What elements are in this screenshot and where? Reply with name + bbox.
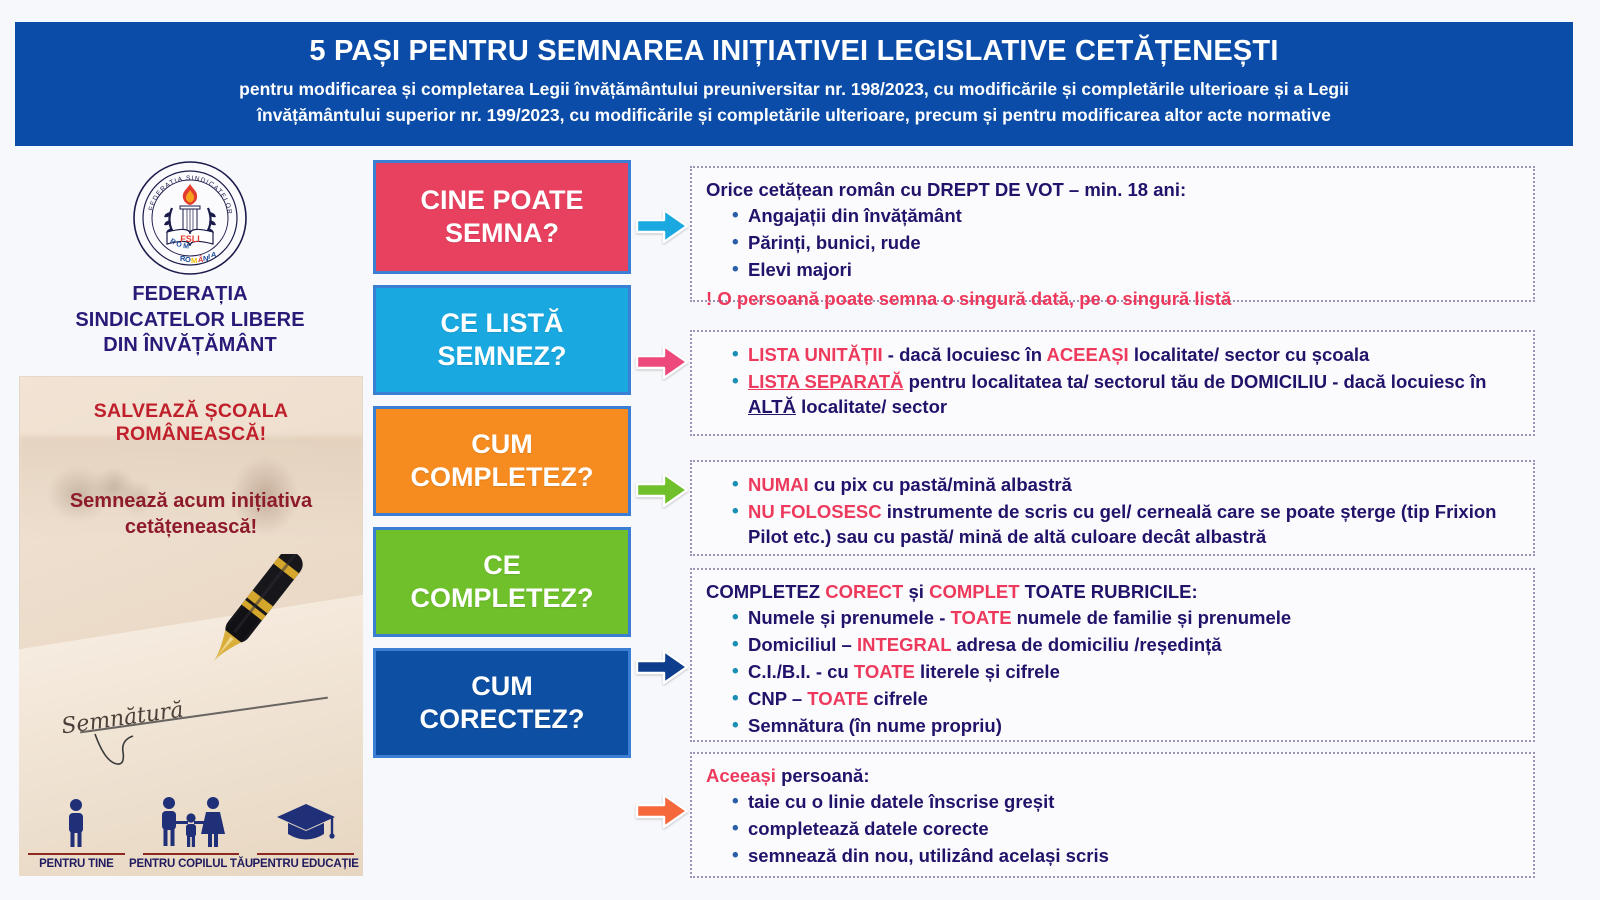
emphasis-numai: NUMAI [748,474,809,495]
list-item: Semnătura (în nume propriu) [732,714,1519,739]
poster-icon-caption: PENTRU COPILUL TĂU [129,858,253,870]
step-box-cum-corectez[interactable]: CUM CORECTEZ? [373,648,631,758]
text: literele și cifrele [915,661,1060,682]
divider [28,853,125,855]
list-item: semnează din nou, utilizând același scri… [732,844,1519,869]
step-label-line1: CUM [471,671,533,701]
emphasis-alta: ALTĂ [748,396,796,417]
poster-icon-caption: PENTRU EDUCAȚIE [253,858,359,870]
left-column: FEDERATIA SINDICATELOR LIBERE DIN INVATA… [15,158,365,878]
step-label-line2: SEMNA? [445,218,559,248]
header-subtitle: pentru modificarea și completarea Legii … [239,76,1349,129]
step-label-line1: CE [483,550,521,580]
emphasis-toate: TOATE [807,688,868,709]
step-box-cine-poate-semna[interactable]: CINE POATE SEMNA? [373,160,631,274]
emphasis-aceeasi: Aceeași [706,765,776,786]
text: cu pix cu pastă/mină albastră [809,474,1072,495]
organization-block: FEDERATIA SINDICATELOR LIBERE DIN INVATA… [15,158,365,376]
content-panel-ce-lista-semnez: LISTA UNITĂȚII - dacă locuiesc în ACEEAȘ… [690,330,1535,436]
panel5-list: taie cu o linie datele înscrise greșit c… [706,790,1519,868]
emphasis-toate: TOATE [951,607,1012,628]
text: localitate/ sector cu școala [1129,344,1370,365]
panel2-list: LISTA UNITĂȚII - dacă locuiesc în ACEEAȘ… [706,343,1519,419]
step-label-line1: CINE POATE [420,185,583,215]
warning-mark: ! [706,288,712,309]
emphasis-aceeasi: ACEEAȘI [1046,344,1128,365]
poster-icon-item: PENTRU TINE [21,794,131,870]
poster-subtitle-line1: Semnează acum inițiativa [19,488,363,514]
list-item: CNP – TOATE cifrele [732,687,1519,712]
list-item: LISTA UNITĂȚII - dacă locuiesc în ACEEAȘ… [732,343,1519,368]
list-item: NU FOLOSESC instrumente de scris cu gel/… [732,500,1519,550]
content-panel-cine-poate-semna: Orice cetățean român cu DREPT DE VOT – m… [690,166,1535,302]
text: Domiciliul – [748,634,857,655]
emphasis-lista-unitatii: LISTA UNITĂȚII [748,344,883,365]
panel5-heading: Aceeași persoană: [706,764,1519,788]
list-item: completează datele corecte [732,817,1519,842]
content-panel-ce-completez: COMPLETEZ CORECT și COMPLET TOATE RUBRIC… [690,568,1535,742]
poster-icon-caption: PENTRU TINE [39,858,113,870]
arrow-right-icon-step1 [634,205,690,247]
campaign-poster: SALVEAZĂ ȘCOALA ROMÂNEASCĂ! Semnează acu… [19,376,363,876]
panel4-heading: COMPLETEZ CORECT și COMPLET TOATE RUBRIC… [706,580,1519,604]
text: pentru localitatea ta/ sectorul tău de D… [904,371,1487,392]
poster-subtitle: Semnează acum inițiativa cetățenească! [19,488,363,541]
organization-name-line3: DIN ÎNVĂȚĂMÂNT [75,333,304,359]
graduation-cap-icon [275,794,337,848]
emphasis-nu-folosesc: NU FOLOSESC [748,501,882,522]
organization-name: FEDERAȚIA SINDICATELOR LIBERE DIN ÎNVĂȚĂ… [75,282,304,359]
fsli-emblem-icon: FEDERATIA SINDICATELOR LIBERE DIN INVATA… [132,160,248,276]
text: persoană: [776,765,870,786]
list-item: Angajații din învățământ [732,204,1519,229]
poster-title: SALVEAZĂ ȘCOALA ROMÂNEASCĂ! [19,400,363,446]
panel4-list: Numele și prenumele - TOATE numele de fa… [706,606,1519,738]
emphasis-integral: INTEGRAL [857,634,951,655]
svg-text:A: A [211,250,217,259]
text: și [903,581,929,602]
emphasis-toate: TOATE [854,661,915,682]
step-label-line1: CUM [471,429,533,459]
step-label-line1: CE LISTĂ [440,308,563,338]
text: Numele și prenumele - [748,607,951,628]
list-item: LISTA SEPARATĂ pentru localitatea ta/ se… [732,370,1519,420]
svg-text:M: M [191,256,197,265]
poster-subtitle-line2: cetățenească! [19,514,363,540]
step-label-line2: COMPLETEZ? [411,462,594,492]
step-label-line2: CORECTEZ? [420,704,585,734]
text: COMPLETEZ [706,581,825,602]
emphasis-complet: COMPLET [929,581,1019,602]
arrow-right-icon-step4 [634,646,690,688]
person-icon [59,794,93,848]
emphasis-corect: CORECT [825,581,903,602]
list-item: C.I./B.I. - cu TOATE literele și cifrele [732,660,1519,685]
list-item: Domiciliul – INTEGRAL adresa de domicili… [732,633,1519,658]
poster-icon-row: PENTRU TINE [19,770,363,870]
header-subtitle-line2: învățământului superior nr. 199/2023, cu… [239,102,1349,128]
step-column: CINE POATE SEMNA? CE LISTĂ SEMNEZ? CUM C… [373,160,631,769]
header-subtitle-line1: pentru modificarea și completarea Legii … [239,76,1349,102]
svg-text:I: I [208,252,210,261]
panel1-warning: ! O persoană poate semna o singură dată,… [706,287,1519,311]
list-item: taie cu o linie datele înscrise greșit [732,790,1519,815]
text: localitate/ sector [796,396,947,417]
arrow-right-icon-step2 [634,341,690,383]
poster-icon-item: PENTRU EDUCAȚIE [251,794,361,870]
organization-name-line2: SINDICATELOR LIBERE [75,308,304,334]
svg-text:FSLI: FSLI [180,234,200,244]
step-box-ce-completez[interactable]: CE COMPLETEZ? [373,527,631,637]
panel3-list: NUMAI cu pix cu pastă/mină albastră NU F… [706,473,1519,549]
text: - dacă locuiesc în [883,344,1047,365]
page-title: 5 PAȘI PENTRU SEMNAREA INIȚIATIVEI LEGIS… [309,36,1278,68]
panel1-heading: Orice cetățean român cu DREPT DE VOT – m… [706,178,1519,202]
content-panel-cum-corectez: Aceeași persoană: taie cu o linie datele… [690,752,1535,878]
divider [257,853,354,855]
text: TOATE RUBRICILE: [1020,581,1198,602]
panel1-list: Angajații din învățământ Părinți, bunici… [706,204,1519,282]
step-label-line2: SEMNEZ? [437,341,566,371]
text: numele de familie și prenumele [1012,607,1292,628]
content-panel-cum-completez: NUMAI cu pix cu pastă/mină albastră NU F… [690,460,1535,556]
step-box-ce-lista-semnez[interactable]: CE LISTĂ SEMNEZ? [373,285,631,395]
text: cifrele [868,688,928,709]
step-label-line2: COMPLETEZ? [411,583,594,613]
emphasis-lista-separata: LISTA SEPARATĂ [748,371,904,392]
step-box-cum-completez[interactable]: CUM COMPLETEZ? [373,406,631,516]
arrow-right-icon-step3 [634,469,690,511]
list-item: Elevi majori [732,258,1519,283]
text: adresa de domiciliu /reședință [951,634,1221,655]
arrow-right-icon-step5 [634,790,690,832]
poster-icon-item: PENTRU COPILUL TĂU [136,794,246,870]
list-item: Numele și prenumele - TOATE numele de fa… [732,606,1519,631]
header-banner: 5 PAȘI PENTRU SEMNAREA INIȚIATIVEI LEGIS… [15,22,1573,146]
fountain-pen-icon [169,554,363,744]
divider [143,853,240,855]
family-icon [153,794,229,848]
text: CNP – [748,688,807,709]
text: C.I./B.I. - cu [748,661,854,682]
list-item: NUMAI cu pix cu pastă/mină albastră [732,473,1519,498]
organization-name-line1: FEDERAȚIA [75,282,304,308]
warning-text: O persoană poate semna o singură dată, p… [717,288,1231,309]
list-item: Părinți, bunici, rude [732,231,1519,256]
